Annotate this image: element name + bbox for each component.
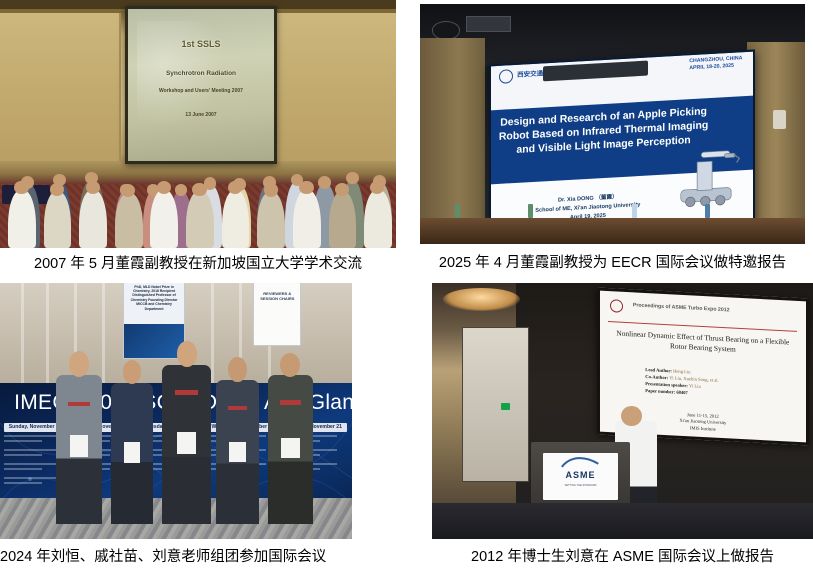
front-table [420, 218, 805, 244]
wall-poster-speaker: PhD, MLD Nobel Prize in Chemistry, 2018 … [123, 283, 185, 359]
wall-switch-plate [773, 110, 786, 129]
asme-seal-icon [611, 300, 624, 314]
badge [124, 442, 141, 463]
person-head [228, 357, 247, 381]
caption-imece-2024: 2024 年刘恒、戚社苗、刘意老师组团参加国际会议 [0, 548, 396, 566]
slide-title-line2: Synchrotron Radiation [128, 70, 275, 77]
badge [177, 432, 196, 454]
wall-poster-text: PhD, MLD Nobel Prize in Chemistry, 2018 … [127, 285, 182, 311]
podium-logo-tagline: SETTING THE STANDARD [543, 484, 618, 487]
water-bottle [455, 204, 460, 218]
lanyard [228, 406, 247, 410]
photo-imece-group: PhD, MLD Nobel Prize in Chemistry, 2018 … [0, 283, 352, 539]
figure-eecr-2025: 西安交通大学 CHANGZHOU, CHINA APRIL 18-20, 202… [420, 4, 813, 272]
person-head [69, 351, 89, 376]
figure-asme-2012: Proceedings of ASME Turbo Expo 2012 Nonl… [432, 283, 813, 566]
ceiling-lamp [443, 288, 519, 311]
university-seal-icon [499, 69, 513, 84]
water-bottle [632, 204, 637, 218]
lanyard [175, 390, 198, 395]
podium-logo-text: ASME [543, 470, 618, 480]
water-bottle [528, 204, 533, 218]
paper-number-label: Paper number: [646, 388, 676, 395]
photo-eecr-keynote: 西安交通大学 CHANGZHOU, CHINA APRIL 18-20, 202… [420, 4, 805, 244]
wall-poster-image [124, 324, 184, 359]
podium-logo-panel: ASME SETTING THE STANDARD [543, 453, 618, 500]
wall-right [747, 42, 805, 244]
badge [229, 442, 246, 462]
photo-grid-page: 1st SSLS Synchrotron Radiation Workshop … [0, 0, 813, 579]
speaker-head [621, 406, 642, 426]
lanyard [280, 400, 301, 404]
slide-title: Nonlinear Dynamic Effect of Thrust Beari… [609, 328, 798, 358]
person-3 [162, 365, 211, 524]
person-2 [111, 383, 153, 524]
person-head [280, 353, 300, 377]
asme-swoosh-icon [556, 455, 604, 471]
crowd-front-row [0, 174, 396, 248]
floor [432, 503, 813, 539]
wall-left [420, 38, 485, 244]
exit-sign-icon [501, 403, 510, 410]
lanyard [68, 402, 90, 406]
person-1 [56, 375, 102, 523]
slide-metadata: Lead Author: Heng Liu Co-Author: Yi Liu,… [646, 366, 719, 398]
ceiling-vent [466, 16, 510, 32]
caption-asme-2012: 2012 年博士生刘意在 ASME 国际会议上做报告 [432, 548, 813, 566]
caption-eecr-2025: 2025 年 4 月董霞副教授为 EECR 国际会议做特邀报告 [420, 254, 805, 272]
slide-date: 13 June 2007 [128, 112, 275, 118]
badge [70, 435, 88, 457]
speaker-value: Yi Liu [689, 384, 701, 390]
figure-ssls-2007: 1st SSLS Synchrotron Radiation Workshop … [0, 0, 396, 273]
slide-header: Proceedings of ASME Turbo Expo 2012 [633, 302, 730, 313]
door [462, 327, 529, 483]
badge [281, 438, 299, 459]
paper-number-value: 68407 [677, 390, 688, 396]
water-bottle [705, 204, 710, 218]
slide-subtitle: Workshop and Users' Meeting 2007 [128, 88, 275, 94]
figure-imece-2024: PhD, MLD Nobel Prize in Chemistry, 2018 … [0, 283, 396, 566]
wall-poster-reviewers: REVIEWERS & SESSION CHAIRS [253, 283, 301, 346]
person-5 [268, 375, 314, 523]
photo-asme-presentation: Proceedings of ASME Turbo Expo 2012 Nonl… [432, 283, 813, 539]
caption-ssls-2007: 2007 年 5 月董霞副教授在新加坡国立大学学术交流 [0, 255, 396, 273]
slide-title-line1: 1st SSLS [128, 39, 275, 49]
person-4 [216, 380, 258, 523]
wall-poster-text: REVIEWERS & SESSION CHAIRS [256, 291, 298, 302]
photo-ssls-group: 1st SSLS Synchrotron Radiation Workshop … [0, 0, 396, 248]
person-head [177, 341, 198, 366]
